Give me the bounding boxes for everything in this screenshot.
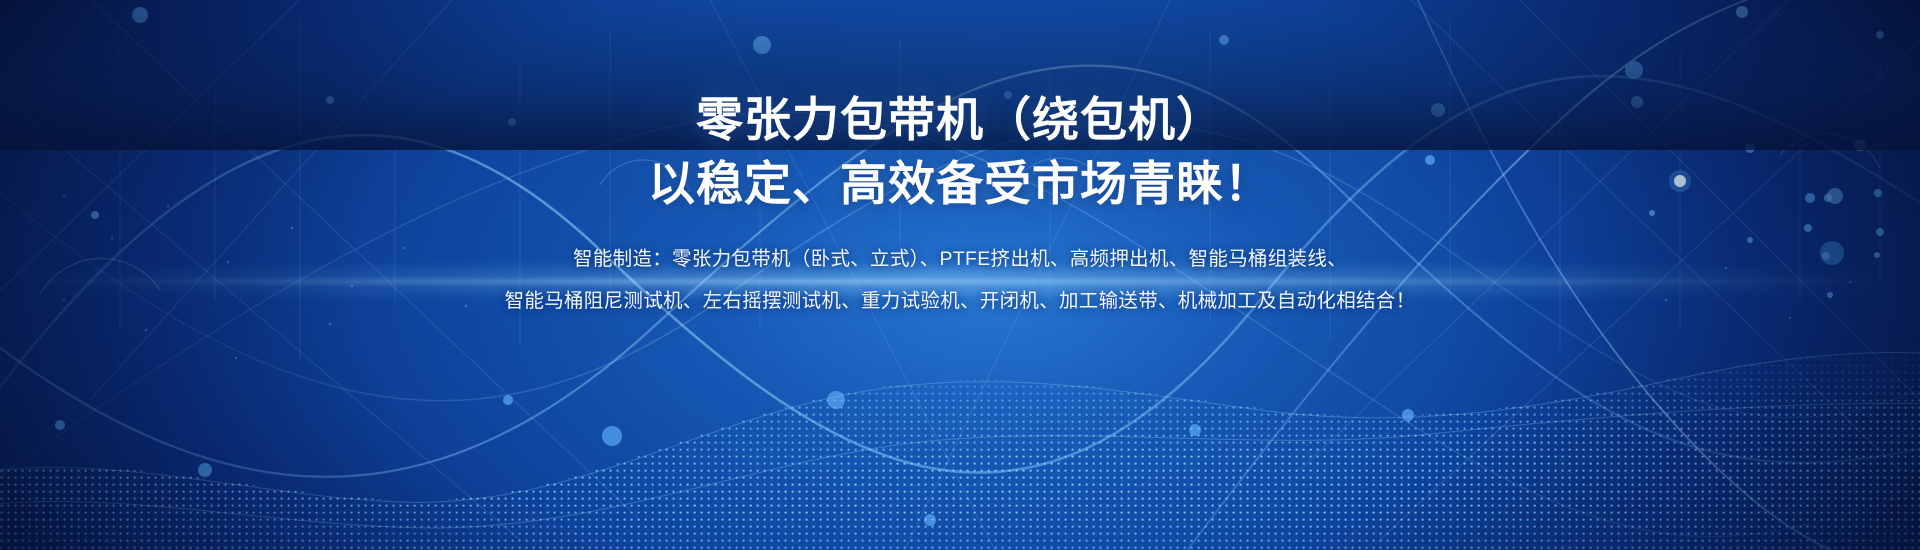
subtitle-block: 智能制造：零张力包带机（卧式、立式）、PTFE挤出机、高频押出机、智能马桶组装线… xyxy=(0,238,1920,322)
headline-line-2: 以稳定、高效备受市场青睐！ xyxy=(0,152,1920,216)
banner-text-block: 零张力包带机（绕包机） 以稳定、高效备受市场青睐！ 智能制造：零张力包带机（卧式… xyxy=(0,88,1920,322)
headline-line-1: 零张力包带机（绕包机） xyxy=(0,88,1920,152)
subtitle-line-2: 智能马桶阻尼测试机、左右摇摆测试机、重力试验机、开闭机、加工输送带、机械加工及自… xyxy=(0,280,1920,322)
subtitle-line-1: 智能制造：零张力包带机（卧式、立式）、PTFE挤出机、高频押出机、智能马桶组装线… xyxy=(0,238,1920,280)
hero-banner: 零张力包带机（绕包机） 以稳定、高效备受市场青睐！ 智能制造：零张力包带机（卧式… xyxy=(0,0,1920,550)
